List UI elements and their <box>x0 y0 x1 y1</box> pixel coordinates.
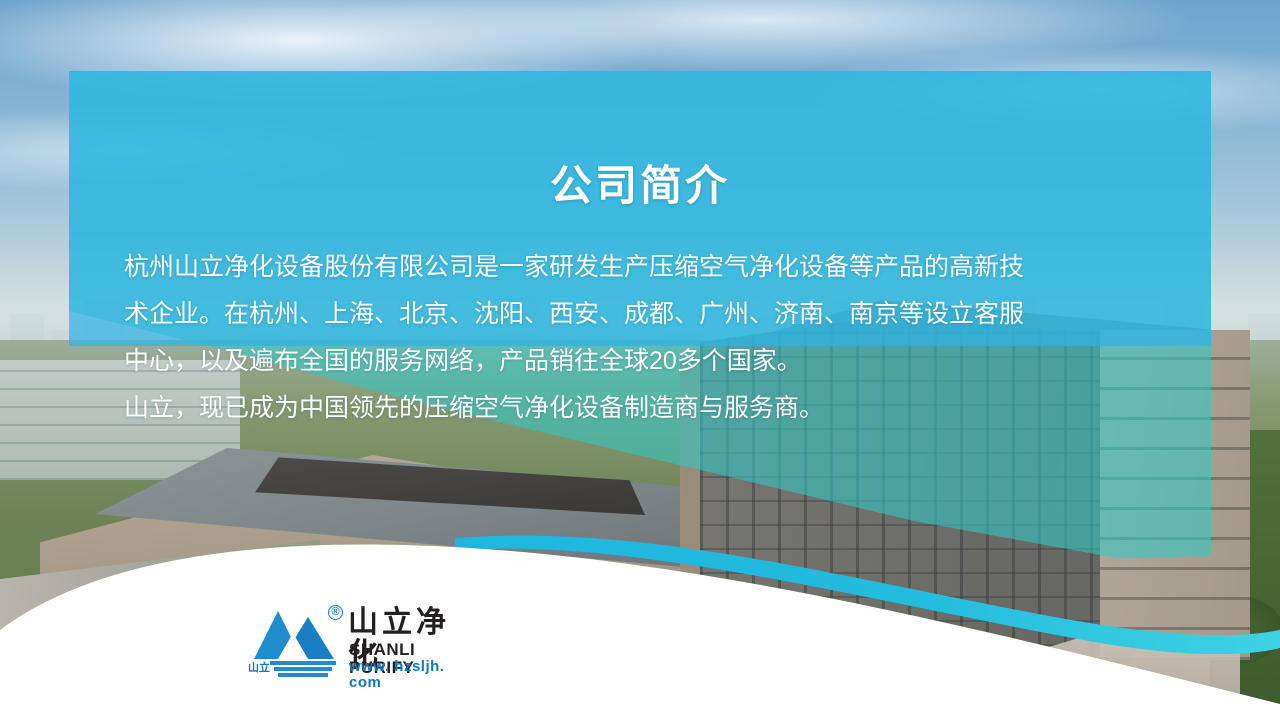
company-description: 杭州山立净化设备股份有限公司是一家研发生产压缩空气净化设备等产品的高新技 术企业… <box>124 244 1104 432</box>
page-title: 公司简介 <box>0 152 1280 213</box>
logo-website[interactable]: www. hzsljh. com <box>349 659 478 691</box>
slide-canvas: 公司简介 杭州山立净化设备股份有限公司是一家研发生产压缩空气净化设备等产品的高新… <box>0 0 1280 720</box>
logo-mark-label: 山立 <box>248 659 270 675</box>
description-line-4: 山立，现已成为中国领先的压缩空气净化设备制造商与服务商。 <box>124 385 1104 432</box>
description-line-1: 杭州山立净化设备股份有限公司是一家研发生产压缩空气净化设备等产品的高新技 <box>124 244 1104 291</box>
white-footer-curve <box>0 470 1280 720</box>
description-line-3: 中心，以及遍布全国的服务网络，产品销往全球20多个国家。 <box>124 338 1104 385</box>
company-logo: ® 山立 山立净化 SHANLI PURIFY www. hzsljh. com <box>248 603 478 681</box>
description-line-2: 术企业。在杭州、上海、北京、沈阳、西安、成都、广州、济南、南京等设立客服 <box>124 291 1104 338</box>
registered-trademark-icon: ® <box>328 605 343 620</box>
